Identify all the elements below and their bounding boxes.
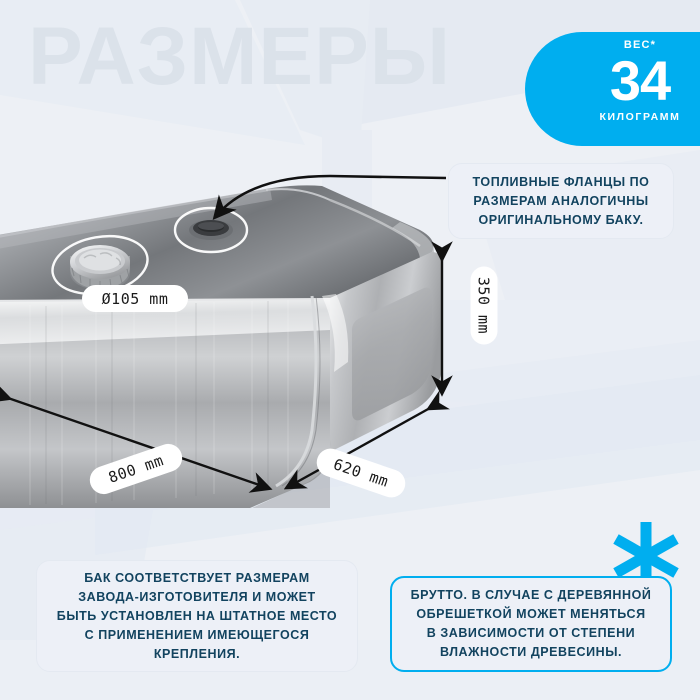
diameter-label: Ø105 mm <box>82 285 188 312</box>
weight-badge-value: 34 <box>525 52 700 110</box>
height-label: 350 mm <box>471 267 498 345</box>
flange-callout-line-2: размерам аналогичны <box>473 192 650 211</box>
weight-badge: ВЕС* 34 КИЛОГРАММ <box>525 32 700 146</box>
weight-badge-unit: КИЛОГРАММ <box>525 110 700 124</box>
flange-callout-line-3: оригинальному баку. <box>473 211 650 230</box>
fitment-note-line-3: быть установлен на штатное место <box>57 607 337 626</box>
gross-weight-note-box: Брутто. В случае с деревянной обрешеткой… <box>390 576 672 672</box>
fitment-note-line-1: Бак соответствует размерам <box>57 569 337 588</box>
fitment-note-line-5: крепления. <box>57 645 337 664</box>
fitment-note-box: Бак соответствует размерам завода-изгото… <box>36 560 358 672</box>
poster-canvas: РАЗМЕРЫ <box>0 0 700 700</box>
fitment-note-line-4: с применением имеющегося <box>57 626 337 645</box>
gross-note-line-4: влажности древесины. <box>411 643 652 662</box>
gross-note-line-1: Брутто. В случае с деревянной <box>411 586 652 605</box>
gross-note-line-2: обрешеткой может меняться <box>411 605 652 624</box>
watermark-title: РАЗМЕРЫ <box>28 16 451 98</box>
fitment-note-line-2: завода-изготовителя и может <box>57 588 337 607</box>
gross-note-line-3: в зависимости от степени <box>411 624 652 643</box>
flange-callout-box: Топливные Фланцы по размерам аналогичны … <box>448 163 674 239</box>
flange-callout-line-1: Топливные Фланцы по <box>473 173 650 192</box>
